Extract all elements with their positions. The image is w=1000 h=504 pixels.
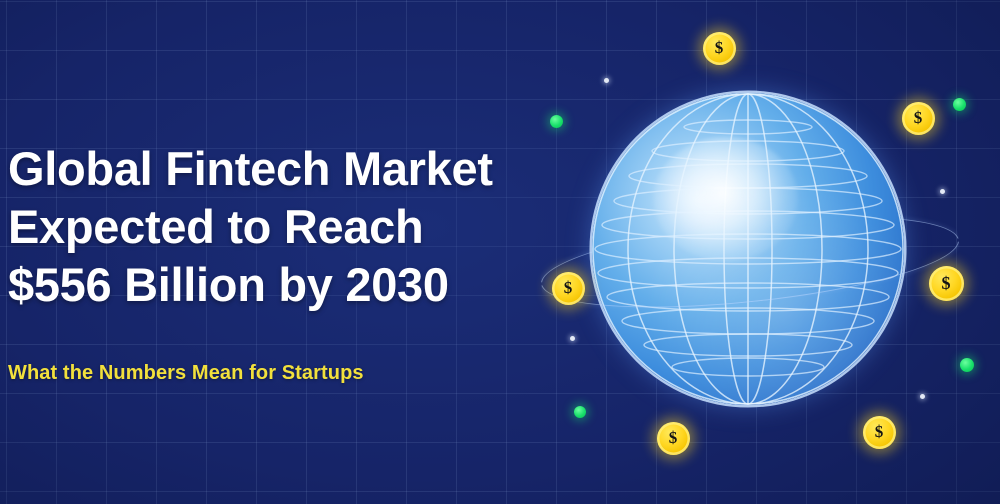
dollar-coin-icon: $: [863, 416, 896, 449]
green-dot-icon: [953, 98, 966, 111]
white-dot-icon: [570, 336, 575, 341]
white-dot-icon: [920, 394, 925, 399]
dollar-coin-icon: $: [552, 272, 585, 305]
dollar-coin-icon: $: [929, 266, 964, 301]
white-dot-icon: [940, 189, 945, 194]
dollar-coin-icon: $: [657, 422, 690, 455]
page-subtitle: What the Numbers Mean for Startups: [8, 362, 364, 385]
globe-rim-light: [592, 93, 904, 405]
fintech-market-banner: Global Fintech Market Expected to Reach …: [0, 0, 1000, 504]
white-dot-icon: [604, 78, 609, 83]
headline-line-2: Expected to Reach: [8, 198, 548, 256]
dollar-coin-icon: $: [902, 102, 935, 135]
green-dot-icon: [550, 115, 563, 128]
globe-sphere: [592, 93, 904, 405]
globe-container: [592, 93, 904, 405]
green-dot-icon: [574, 406, 586, 418]
green-dot-icon: [960, 358, 974, 372]
headline-line-1: Global Fintech Market: [8, 140, 548, 198]
headline-line-3: $556 Billion by 2030: [8, 256, 548, 314]
dollar-coin-icon: $: [703, 32, 736, 65]
page-title: Global Fintech Market Expected to Reach …: [8, 140, 548, 314]
